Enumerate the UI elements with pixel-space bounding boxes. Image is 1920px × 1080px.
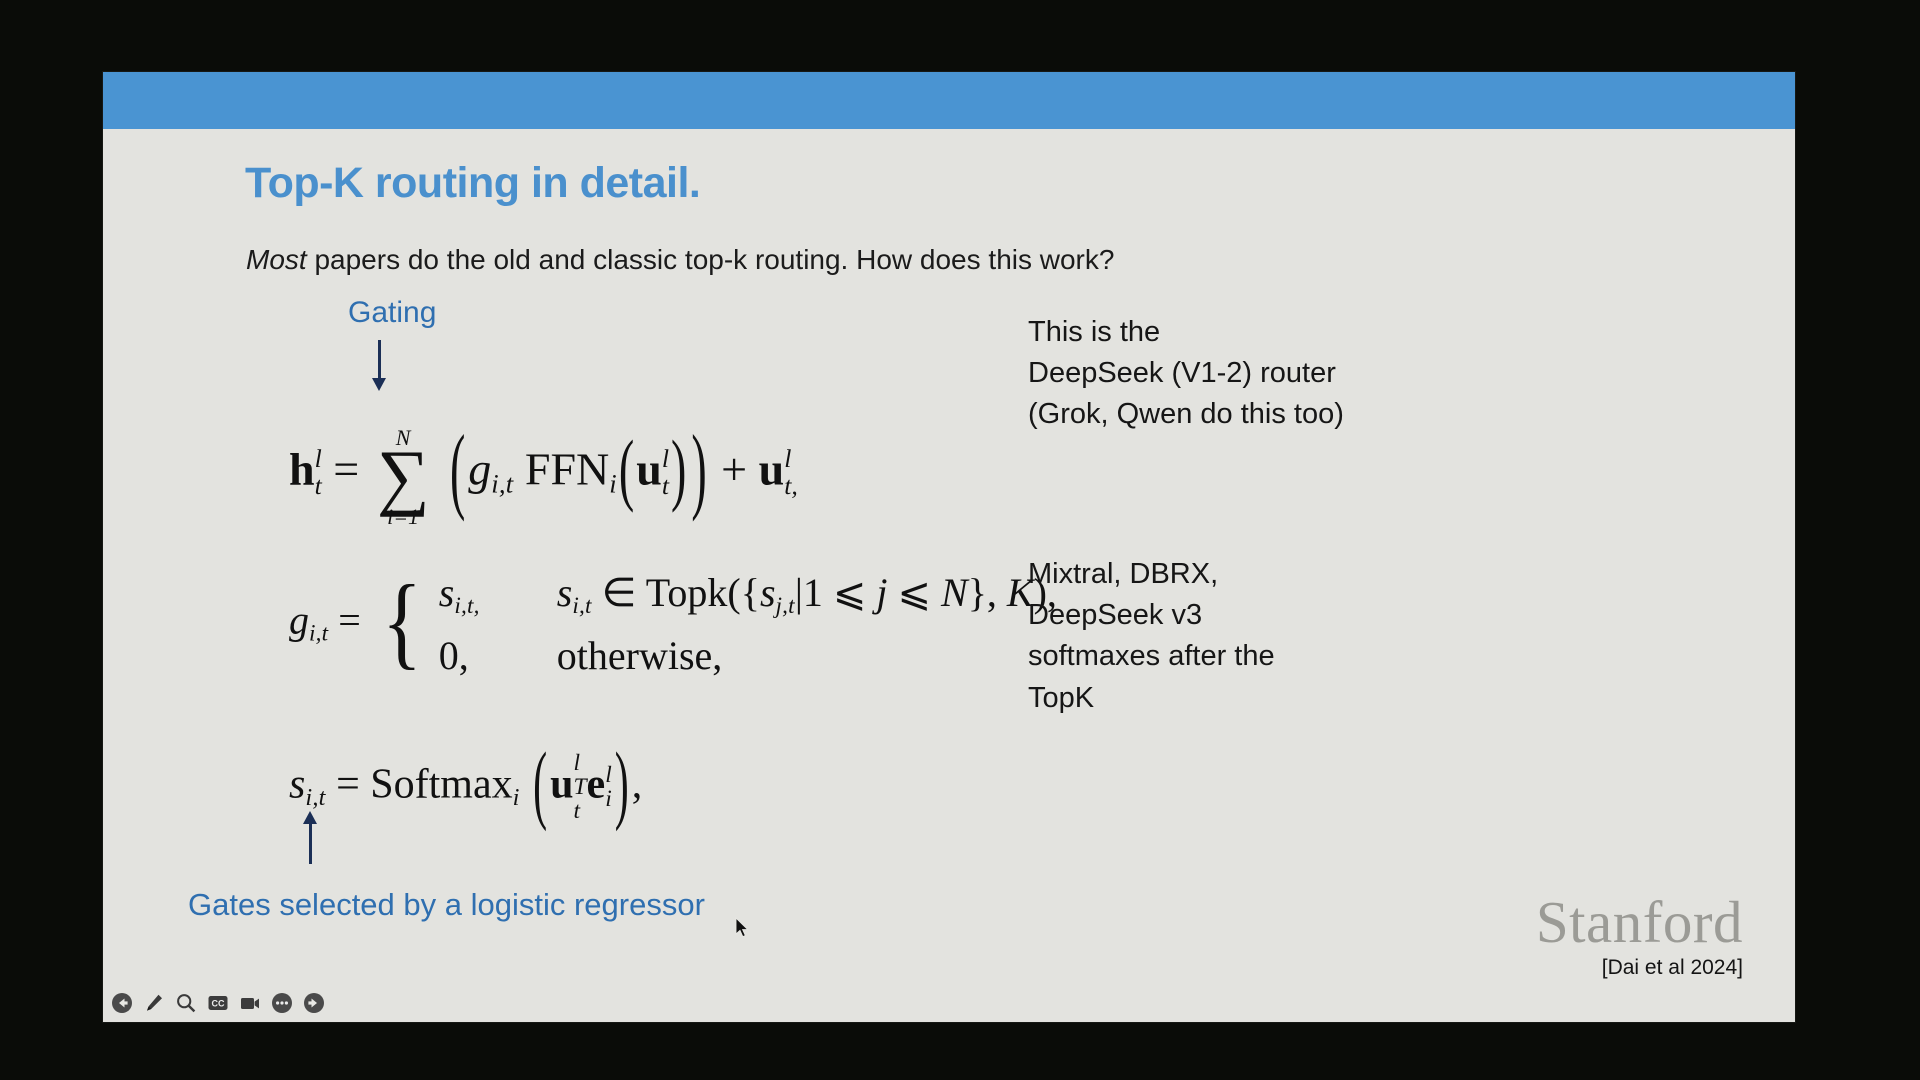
eq2-case-row-1: si,t,si,t ∈ Topk({sj,t|1 ⩽ j ⩽ N}, K), bbox=[439, 562, 1057, 625]
eq3-e-vector: e bbox=[587, 762, 606, 808]
eq1-open-paren-inner: ( bbox=[619, 422, 634, 515]
slide-toolbar[interactable]: CC bbox=[111, 992, 325, 1014]
eq3-equals: = bbox=[336, 762, 360, 808]
eq3-lhs-var: s bbox=[289, 762, 305, 808]
equation-output-hidden-state: hlt = N ∑ i=1 (gi,t FFNi(ult)) + ult, bbox=[289, 424, 798, 524]
eq1-close-paren-inner: ) bbox=[671, 422, 686, 515]
eq2-case2-value: 0, bbox=[439, 625, 557, 687]
eq1-equals: = bbox=[333, 443, 359, 494]
eq2-set-open: { bbox=[741, 570, 760, 615]
slide-canvas: Top-K routing in detail. Most papers do … bbox=[103, 72, 1795, 1022]
eq2-index-var: j bbox=[876, 570, 887, 615]
eq1-lhs-vector: h bbox=[289, 443, 315, 494]
eq2-case-row-2: 0,otherwise, bbox=[439, 625, 1057, 687]
eq1-sigma-glyph: ∑ bbox=[377, 449, 430, 507]
back-arrow-icon[interactable] bbox=[111, 992, 133, 1014]
more-options-icon[interactable] bbox=[271, 992, 293, 1014]
gates-up-arrow-icon bbox=[309, 822, 312, 864]
equation-gate-definition: gi,t = { si,t,si,t ∈ Topk({sj,t|1 ⩽ j ⩽ … bbox=[289, 562, 1057, 687]
eq2-member-symbol: ∈ bbox=[602, 570, 637, 615]
eq1-residual-vector: u bbox=[759, 443, 785, 494]
mouse-cursor bbox=[735, 917, 751, 939]
eq2-set-sub: j,t bbox=[776, 593, 795, 619]
eq3-trailing-comma: , bbox=[632, 762, 643, 808]
slide-subtitle-rest: papers do the old and classic top-k rout… bbox=[307, 244, 1115, 275]
eq2-case1-value: si,t, bbox=[439, 562, 557, 625]
note-deepseek-router: This is the DeepSeek (V1-2) router (Grok… bbox=[1028, 312, 1344, 436]
eq3-softmax: Softmax bbox=[370, 762, 512, 808]
eq1-close-paren-outer: ) bbox=[691, 413, 706, 524]
equation-softmax-scores: si,t = Softmaxi (ulTteli), bbox=[289, 752, 642, 824]
note-softmax-after-topk: Mixtral, DBRX, DeepSeek v3 softmaxes aft… bbox=[1028, 554, 1275, 719]
eq2-set-bar: | bbox=[795, 570, 803, 615]
forward-arrow-icon[interactable] bbox=[303, 992, 325, 1014]
slide-title: Top-K routing in detail. bbox=[245, 159, 700, 208]
eq2-leq-1: ⩽ bbox=[833, 570, 867, 615]
gates-annotation-label: Gates selected by a logistic regressor bbox=[188, 887, 705, 923]
eq3-u-vector: u bbox=[550, 762, 573, 808]
eq2-lower-bound: 1 bbox=[803, 570, 823, 615]
eq2-set-close: } bbox=[968, 570, 987, 615]
eq1-input-indices: lt bbox=[662, 446, 669, 499]
magnifier-icon[interactable] bbox=[175, 992, 197, 1014]
eq1-input-vector: u bbox=[636, 443, 662, 494]
slide-subtitle-emphasis: Most bbox=[246, 244, 307, 275]
eq1-gate-var: g bbox=[468, 443, 491, 494]
stanford-logo: Stanford bbox=[1536, 888, 1743, 957]
gating-down-arrow-icon bbox=[378, 340, 381, 380]
eq2-set-var: s bbox=[760, 570, 776, 615]
eq3-e-indices: li bbox=[605, 763, 612, 811]
eq1-ffn: FFN bbox=[525, 443, 609, 494]
eq1-lhs-indices: lt bbox=[315, 446, 322, 499]
eq2-topk: Topk bbox=[646, 570, 728, 615]
slide-header-band bbox=[103, 72, 1795, 129]
eq3-close-paren: ) bbox=[615, 734, 629, 835]
eq2-lhs-var: g bbox=[289, 598, 309, 643]
svg-text:CC: CC bbox=[212, 999, 225, 1009]
eq2-case2-cond: otherwise, bbox=[557, 633, 723, 678]
eq1-open-paren-outer: ( bbox=[450, 413, 465, 524]
slide-subtitle: Most papers do the old and classic top-k… bbox=[246, 244, 1114, 276]
eq2-equals: = bbox=[338, 598, 361, 643]
eq2-comma-1: , bbox=[987, 570, 1007, 615]
eq1-summation: N ∑ i=1 bbox=[377, 428, 430, 528]
citation-label: [Dai et al 2024] bbox=[1602, 956, 1743, 980]
eq3-lhs-sub: i,t bbox=[305, 784, 325, 811]
pencil-icon[interactable] bbox=[143, 992, 165, 1014]
presentation-viewer: Top-K routing in detail. Most papers do … bbox=[0, 0, 1920, 1080]
eq1-plus: + bbox=[721, 443, 747, 494]
eq2-case1-cond-sub: i,t bbox=[572, 593, 591, 619]
eq2-topk-open: ( bbox=[727, 570, 740, 615]
eq2-upper-bound: N bbox=[941, 570, 968, 615]
closed-captions-icon[interactable]: CC bbox=[207, 992, 229, 1014]
eq1-gate-sub: i,t bbox=[491, 468, 513, 498]
video-camera-icon[interactable] bbox=[239, 992, 261, 1014]
eq3-softmax-sub: i bbox=[513, 784, 520, 811]
eq2-case1-cond-var: s bbox=[557, 570, 573, 615]
eq1-residual-indices: lt, bbox=[784, 446, 798, 499]
eq1-ffn-sub: i bbox=[609, 468, 617, 498]
eq2-cases: si,t,si,t ∈ Topk({sj,t|1 ⩽ j ⩽ N}, K), 0… bbox=[439, 562, 1057, 687]
gating-callout-label: Gating bbox=[348, 296, 436, 330]
eq2-leq-2: ⩽ bbox=[897, 570, 931, 615]
eq2-lhs-sub: i,t bbox=[309, 621, 328, 647]
eq3-open-paren: ( bbox=[533, 734, 547, 835]
eq3-u-indices: lTt bbox=[573, 751, 586, 823]
